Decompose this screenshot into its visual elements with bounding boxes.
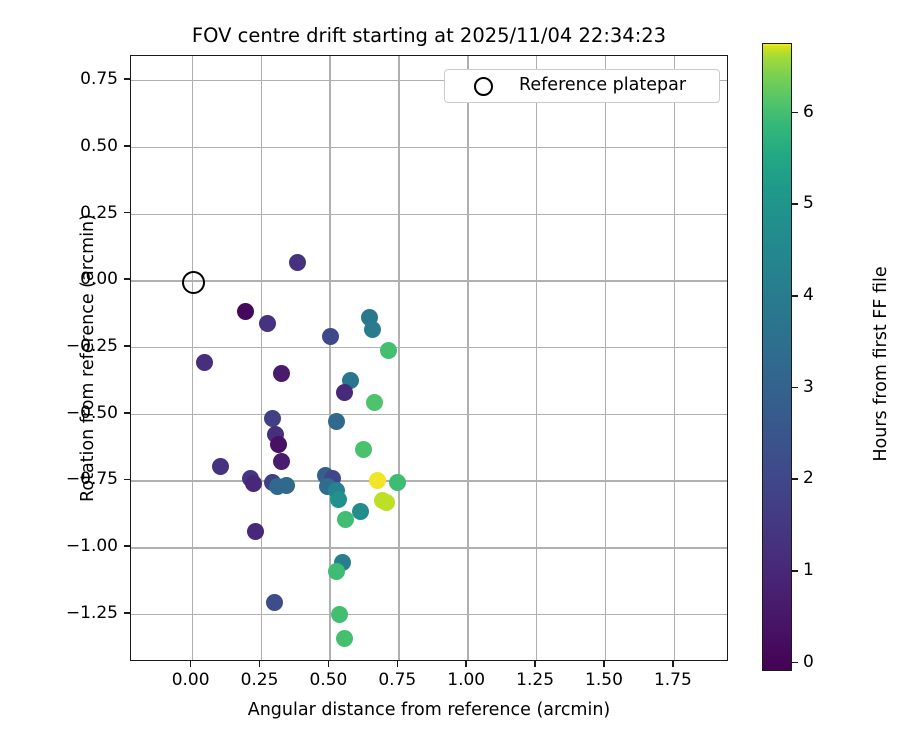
scatter-point	[259, 315, 276, 332]
y-tick-mark	[124, 278, 130, 280]
legend: Reference platepar	[444, 69, 720, 103]
colorbar-tick-mark	[792, 387, 798, 389]
x-tick-mark	[465, 661, 467, 667]
colorbar-label: Hours from first FF file	[871, 50, 891, 678]
x-tick-label: 1.00	[447, 670, 485, 690]
scatter-point	[380, 342, 397, 359]
y-tick-mark	[124, 412, 130, 414]
scatter-point	[212, 458, 229, 475]
colorbar-tick-mark	[792, 295, 798, 297]
y-tick-mark	[124, 612, 130, 614]
scatter-point	[247, 523, 264, 540]
colorbar-tick-mark	[792, 112, 798, 114]
scatter-point	[328, 563, 345, 580]
x-tick-label: 0.50	[309, 670, 347, 690]
reference-platepar-marker-icon	[474, 77, 493, 96]
scatter-point	[336, 384, 353, 401]
x-tick-mark	[603, 661, 605, 667]
scatter-point	[352, 503, 369, 520]
scatter-point	[378, 494, 395, 511]
colorbar-tick-label: 6	[803, 102, 814, 122]
x-tick-label: 0.75	[378, 670, 416, 690]
scatter-point	[369, 472, 386, 489]
colorbar-tick-mark	[792, 478, 798, 480]
colorbar-tick-label: 1	[803, 560, 814, 580]
y-tick-mark	[124, 145, 130, 147]
legend-item-label: Reference platepar	[519, 75, 686, 95]
x-tick-label: 1.25	[516, 670, 554, 690]
scatter-point	[322, 328, 339, 345]
colorbar-tick-label: 4	[803, 285, 814, 305]
scatter-point	[364, 321, 381, 338]
x-tick-label: 1.75	[654, 670, 692, 690]
scatter-point	[366, 394, 383, 411]
x-tick-mark	[672, 661, 674, 667]
colorbar	[762, 43, 792, 671]
scatter-point	[264, 410, 281, 427]
scatter-point	[245, 475, 262, 492]
scatter-point	[237, 303, 254, 320]
matplotlib-figure: FOV centre drift starting at 2025/11/04 …	[0, 0, 900, 750]
colorbar-tick-label: 3	[803, 377, 814, 397]
colorbar-tick-mark	[792, 203, 798, 205]
x-axis-label: Angular distance from reference (arcmin)	[130, 700, 728, 720]
x-tick-label: 0.25	[241, 670, 279, 690]
x-tick-label: 1.50	[585, 670, 623, 690]
x-tick-mark	[328, 661, 330, 667]
colorbar-tick-label: 5	[803, 193, 814, 213]
reference-platepar-point	[182, 271, 205, 294]
y-axis-label: Rotation from reference (arcmin)	[78, 55, 98, 661]
scatter-point	[328, 413, 345, 430]
x-tick-mark	[190, 661, 192, 667]
page-title: FOV centre drift starting at 2025/11/04 …	[130, 24, 728, 47]
scatter-point	[196, 354, 213, 371]
y-tick-mark	[124, 545, 130, 547]
scatter-point	[330, 491, 347, 508]
scatter-point	[331, 606, 348, 623]
colorbar-tick-label: 0	[803, 652, 814, 672]
scatter-point	[289, 254, 306, 271]
colorbar-tick-mark	[792, 570, 798, 572]
scatter-point	[273, 453, 290, 470]
colorbar-tick-mark	[792, 662, 798, 664]
scatter-point	[278, 477, 295, 494]
x-tick-mark	[534, 661, 536, 667]
scatter-point	[266, 594, 283, 611]
scatter-point	[389, 474, 406, 491]
scatter-point	[355, 441, 372, 458]
y-tick-mark	[124, 212, 130, 214]
scatter-point	[273, 365, 290, 382]
plot-area	[130, 55, 728, 661]
y-tick-mark	[124, 78, 130, 80]
scatter-points-layer	[131, 56, 727, 660]
x-tick-label: 0.00	[172, 670, 210, 690]
y-tick-mark	[124, 479, 130, 481]
x-tick-mark	[259, 661, 261, 667]
scatter-point	[336, 630, 353, 647]
scatter-point	[270, 436, 287, 453]
x-tick-mark	[397, 661, 399, 667]
colorbar-tick-label: 2	[803, 468, 814, 488]
y-tick-mark	[124, 345, 130, 347]
